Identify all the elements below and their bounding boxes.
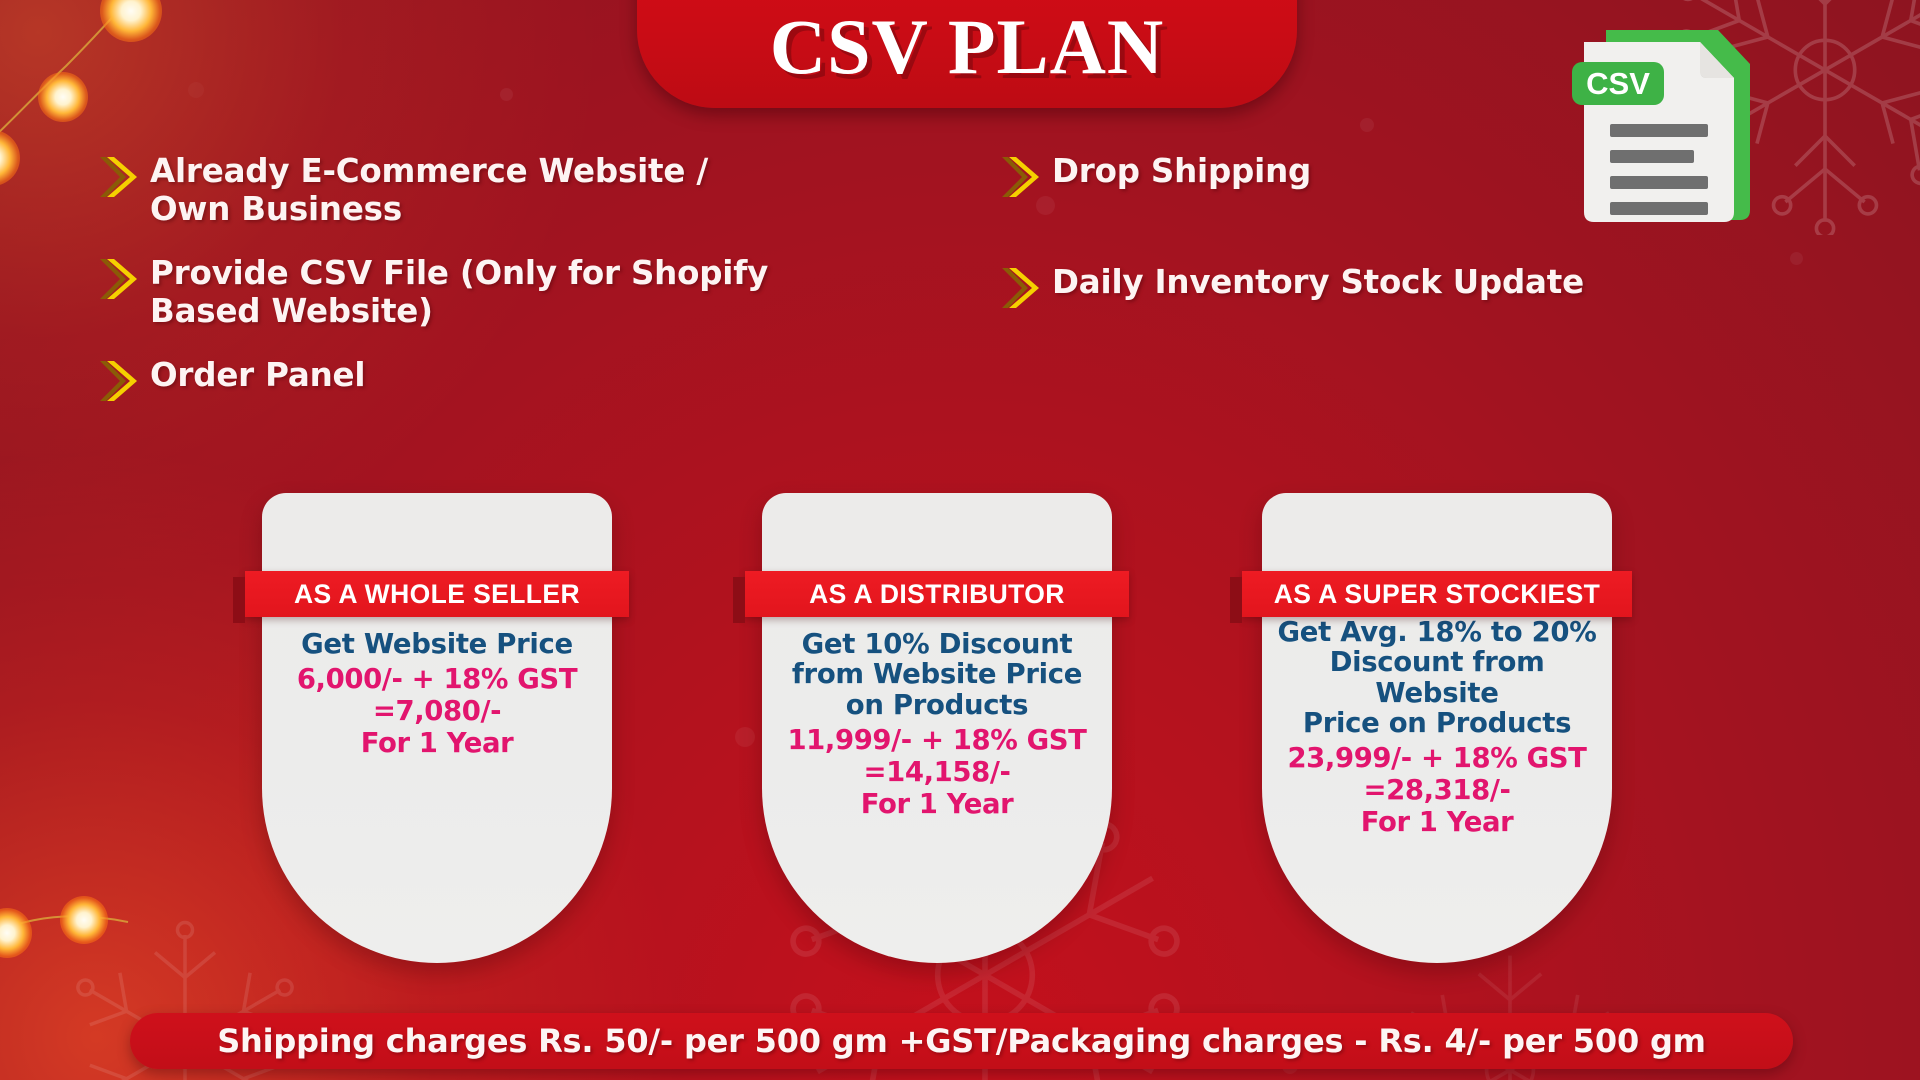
plan-card-whole-seller[interactable]: Get Website Price 6,000/- + 18% GST=7,08…	[262, 493, 612, 963]
feature-item: Drop Shipping	[1000, 152, 1760, 201]
feature-item: Provide CSV File (Only for ShopifyBased …	[98, 254, 898, 330]
plan-card-heading: Get Avg. 18% to 20%Discount fromWebsiteP…	[1272, 617, 1602, 738]
plan-card-ribbon: AS A SUPER STOCKIEST	[1242, 571, 1632, 617]
features-left-column: Already E-Commerce Website /Own Business…	[98, 152, 898, 431]
page-title-text: CSV PLAN	[770, 2, 1164, 108]
plan-card-content: Get 10% Discountfrom Website Priceon Pro…	[762, 629, 1112, 820]
plan-card-price: 11,999/- + 18% GST=14,158/-For 1 Year	[772, 725, 1102, 821]
double-chevron-right-icon	[98, 357, 144, 405]
feature-label: Order Panel	[150, 356, 365, 394]
plan-card-ribbon-label: AS A DISTRIBUTOR	[809, 579, 1065, 610]
plan-card-price: 6,000/- + 18% GST=7,080/-For 1 Year	[272, 664, 602, 760]
feature-item: Already E-Commerce Website /Own Business	[98, 152, 898, 228]
feature-item: Order Panel	[98, 356, 898, 405]
plan-card-ribbon-label: AS A WHOLE SELLER	[294, 579, 580, 610]
string-light-icon	[0, 0, 200, 172]
bokeh-dot	[1790, 252, 1803, 265]
feature-label: Already E-Commerce Website /Own Business	[150, 152, 708, 228]
plan-card-ribbon: AS A DISTRIBUTOR	[745, 571, 1129, 617]
plan-card-content: Get Avg. 18% to 20%Discount fromWebsiteP…	[1262, 617, 1612, 839]
plan-card-ribbon: AS A WHOLE SELLER	[245, 571, 629, 617]
csv-icon-line	[1610, 124, 1708, 137]
bokeh-dot	[188, 82, 204, 98]
plan-card-body: Get Website Price 6,000/- + 18% GST=7,08…	[262, 493, 612, 963]
charges-banner: Shipping charges Rs. 50/- per 500 gm +GS…	[130, 1013, 1793, 1069]
double-chevron-right-icon	[1000, 153, 1046, 201]
feature-label: Drop Shipping	[1052, 152, 1311, 190]
plan-card-body: Get Avg. 18% to 20%Discount fromWebsiteP…	[1262, 493, 1612, 963]
plan-card-heading: Get Website Price	[272, 629, 602, 659]
plan-card-ribbon-label: AS A SUPER STOCKIEST	[1274, 579, 1601, 610]
double-chevron-right-icon	[1000, 264, 1046, 312]
double-chevron-right-icon	[98, 153, 144, 201]
charges-banner-text: Shipping charges Rs. 50/- per 500 gm +GS…	[217, 1022, 1706, 1060]
csv-icon-badge-label: CSV	[1586, 66, 1650, 101]
bokeh-dot	[1360, 118, 1374, 132]
plan-card-heading: Get 10% Discountfrom Website Priceon Pro…	[772, 629, 1102, 720]
plan-card-price: 23,999/- + 18% GST=28,318/-For 1 Year	[1272, 743, 1602, 839]
bokeh-dot	[500, 88, 513, 101]
poster-canvas: CSV PLAN CSV Already E-	[0, 0, 1920, 1080]
page-title: CSV PLAN	[637, 0, 1297, 108]
feature-label: Provide CSV File (Only for ShopifyBased …	[150, 254, 768, 330]
feature-item: Daily Inventory Stock Update	[1000, 263, 1760, 312]
plan-cards: Get Website Price 6,000/- + 18% GST=7,08…	[0, 493, 1920, 963]
feature-label: Daily Inventory Stock Update	[1052, 263, 1584, 301]
features-right-column: Drop Shipping Daily Inventory Stock Upda…	[1000, 152, 1760, 374]
plan-card-body: Get 10% Discountfrom Website Priceon Pro…	[762, 493, 1112, 963]
plan-card-distributor[interactable]: Get 10% Discountfrom Website Priceon Pro…	[762, 493, 1112, 963]
double-chevron-right-icon	[98, 255, 144, 303]
plan-card-content: Get Website Price 6,000/- + 18% GST=7,08…	[262, 629, 612, 760]
plan-card-super-stockiest[interactable]: Get Avg. 18% to 20%Discount fromWebsiteP…	[1262, 493, 1612, 963]
